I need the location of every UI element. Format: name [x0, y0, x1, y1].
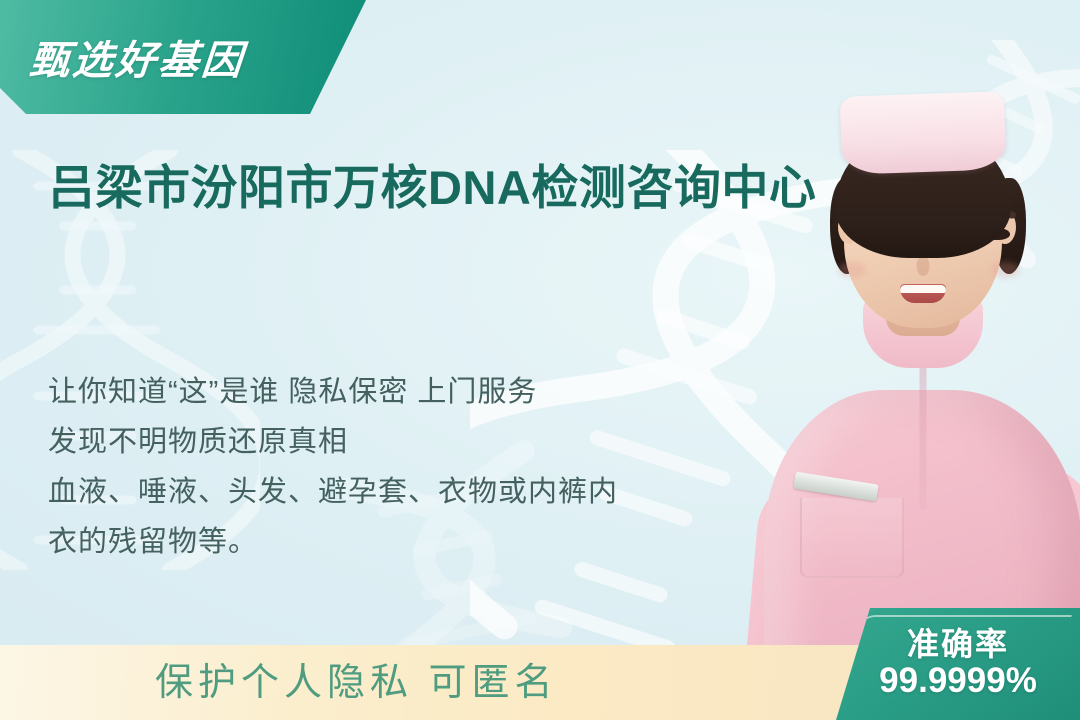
nurse-cap — [840, 91, 1007, 175]
nurse-cheek-right — [992, 262, 1020, 278]
description-line-2: 发现不明物质还原真相 — [48, 418, 768, 468]
promo-poster: 甄选好基因 吕梁市汾阳市万核DNA检测咨询中心 让你知道“这”是谁 隐私保密 上… — [0, 0, 1080, 720]
nurse-nose — [917, 256, 930, 276]
nurse-uniform-pocket — [800, 498, 904, 578]
brand-banner-text: 甄选好基因 — [27, 28, 247, 86]
description-line-4: 衣的残留物等。 — [48, 518, 768, 568]
nurse-mouth — [900, 284, 946, 303]
description-line-1: 让你知道“这”是谁 隐私保密 上门服务 — [48, 368, 768, 418]
nurse-cheek-left — [838, 262, 866, 278]
nurse-teeth — [900, 285, 946, 293]
page-title: 吕梁市汾阳市万核DNA检测咨询中心 — [48, 158, 838, 218]
description-line-3: 血液、唾液、头发、避孕套、衣物或内裤内 — [48, 468, 768, 518]
accuracy-value: 99.9999% — [879, 661, 1037, 700]
brand-banner: 甄选好基因 — [0, 0, 366, 114]
service-description: 让你知道“这”是谁 隐私保密 上门服务 发现不明物质还原真相 血液、唾液、头发、… — [48, 368, 768, 568]
accuracy-label: 准确率 — [907, 628, 1009, 662]
footer-tagline: 保护个人隐私 可匿名 — [155, 651, 558, 706]
accuracy-badge: 准确率 99.9999% — [836, 608, 1080, 720]
